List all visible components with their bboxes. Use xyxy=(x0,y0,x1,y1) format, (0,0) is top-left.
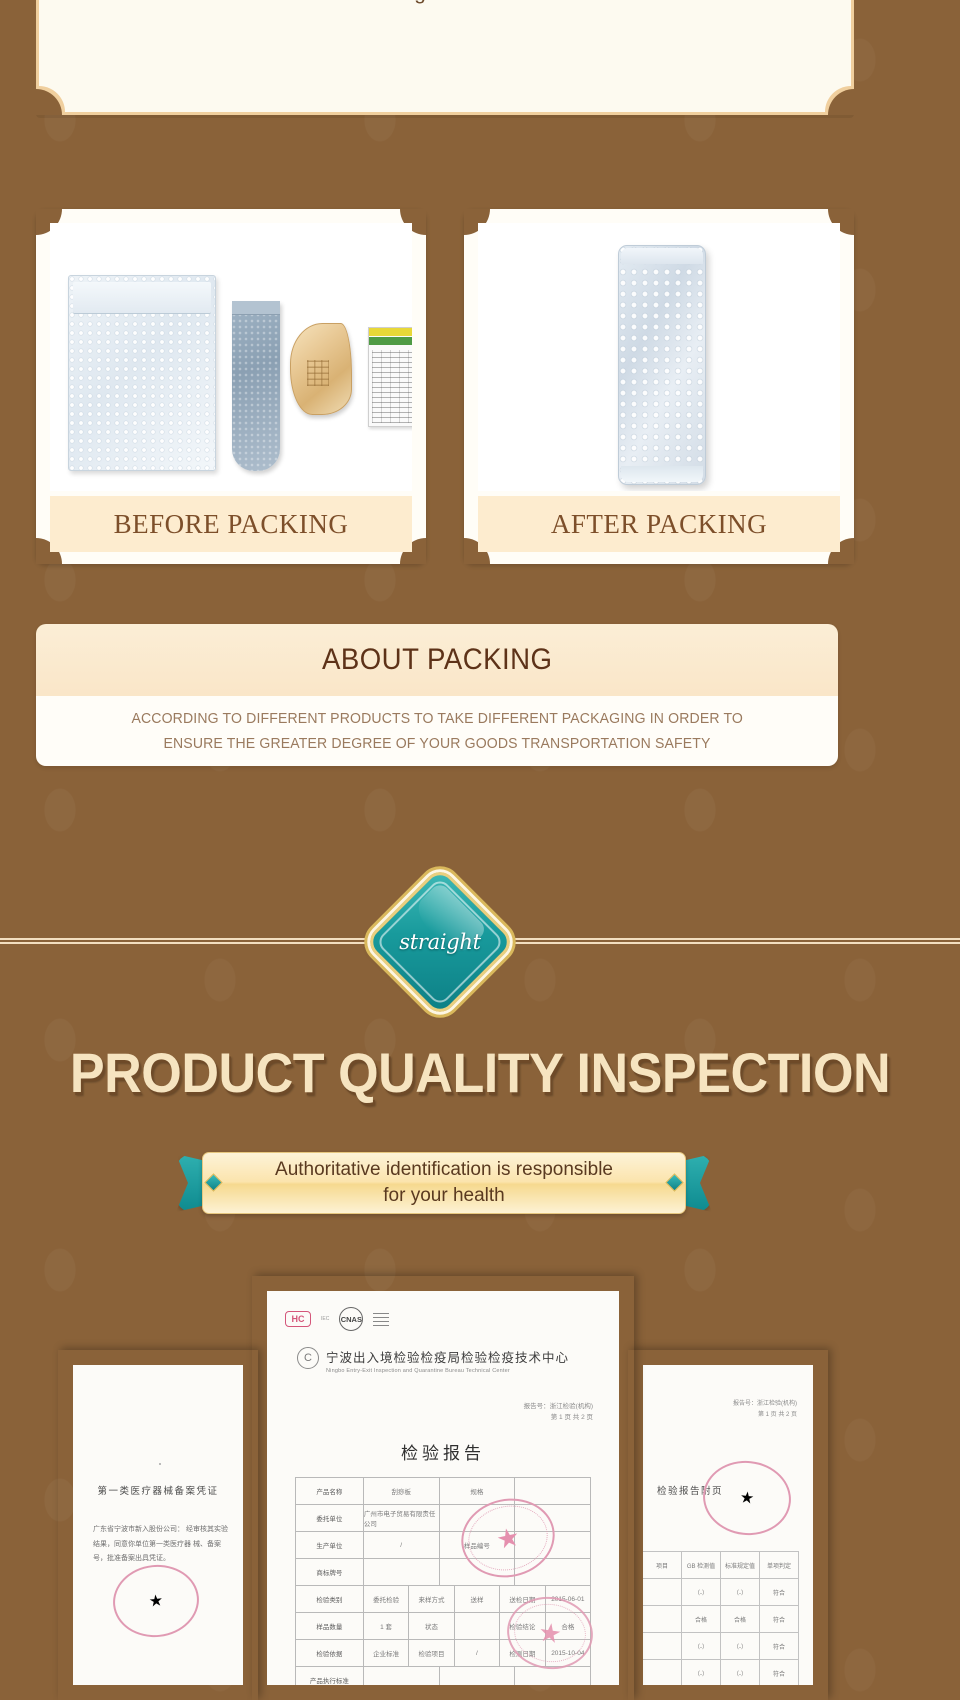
table-cell: 合格 xyxy=(682,1606,721,1632)
hc-logo-icon: HC xyxy=(285,1311,311,1327)
certificate-frame: 报告号：浙江检验(机构) 第 1 页 共 2 页 检验报告附页 ★ 项目GB 检… xyxy=(636,1358,820,1692)
table-cell xyxy=(643,1606,682,1632)
table-cell-label: 样品数量 xyxy=(296,1613,364,1639)
about-packing-heading: ABOUT PACKING xyxy=(322,643,552,677)
certificate-left-paragraph: 广东省宁波市新入股份公司： 经审核其实验结果，同意你单位第一类医疗器 械、备案号… xyxy=(93,1523,229,1567)
certificate-right: 报告号：浙江检验(机构) 第 1 页 共 2 页 检验报告附页 ★ 项目GB 检… xyxy=(628,1350,828,1700)
table-cell: 项目 xyxy=(643,1552,682,1578)
certificate-left-title: 第一类医疗器械备案凭证 xyxy=(73,1483,243,1497)
leaflet-yellow-band xyxy=(369,328,412,336)
about-packing-body: ACCORDING TO DIFFERENT PRODUCTS TO TAKE … xyxy=(36,696,838,766)
after-packing-label: AFTER PACKING xyxy=(478,496,840,552)
table-cell: 刮痧板 xyxy=(364,1478,440,1504)
certificate-frame: 第一类医疗器械备案凭证 广东省宁波市新入股份公司： 经审核其实验结果，同意你单位… xyxy=(66,1358,250,1692)
table-row: 合格合格符合 xyxy=(643,1606,799,1633)
about-packing-line-1: ACCORDING TO DIFFERENT PRODUCTS TO TAKE … xyxy=(131,707,743,732)
certificate-page: HC IEC CNAS C 宁波出入境检验检疫局检验检疫技术中心 Ningbo … xyxy=(267,1291,619,1685)
org-names: 宁波出入境检验检疫局检验检疫技术中心 Ningbo Entry-Exit Ins… xyxy=(326,1347,569,1374)
ribbon-body: Authoritative identification is responsi… xyxy=(202,1152,686,1214)
pouch-lip xyxy=(232,301,280,315)
table-cell xyxy=(364,1559,440,1585)
table-cell: 标准规定值 xyxy=(721,1552,760,1578)
report-number: 报告号：浙江检验(机构) xyxy=(733,1399,797,1410)
ribbon-text: Authoritative identification is responsi… xyxy=(249,1157,639,1208)
instruction-leaflet xyxy=(368,327,412,427)
leaflet-green-band xyxy=(369,337,412,345)
official-seal-stamp: ★ xyxy=(699,1457,794,1540)
envelope-flap xyxy=(73,282,211,314)
official-seal-stamp: ★ xyxy=(109,1561,202,1642)
table-row: （-）（-）符合 xyxy=(643,1579,799,1606)
table-row: （-）（-）符合 xyxy=(643,1660,799,1685)
table-cell: 1 套 xyxy=(364,1613,409,1639)
report-meta: 报告号：浙江检验(机构) 第 1 页 共 2 页 xyxy=(733,1399,797,1422)
spec-card: long:100mm xyxy=(36,0,854,115)
before-packing-photo xyxy=(50,223,412,491)
before-packing-card: BEFORE PACKING xyxy=(36,209,426,564)
ribbon-line-2: for your health xyxy=(383,1185,504,1206)
table-cell-label: 委托单位 xyxy=(296,1505,364,1531)
issuing-organization: C 宁波出入境检验检疫局检验检疫技术中心 Ningbo Entry-Exit I… xyxy=(297,1347,601,1374)
logo-caption: IEC xyxy=(321,1316,329,1322)
pouch-texture xyxy=(232,301,280,471)
after-packing-photo xyxy=(478,223,840,491)
table-header-row: 项目GB 检测值标准规定值单项判定 xyxy=(643,1552,799,1579)
table-cell xyxy=(643,1633,682,1659)
certificate-page: 报告号：浙江检验(机构) 第 1 页 共 2 页 检验报告附页 ★ 项目GB 检… xyxy=(643,1365,813,1685)
ribbon-right-tail xyxy=(682,1154,712,1212)
table-cell: GB 检测值 xyxy=(682,1552,721,1578)
table-cell: 符合 xyxy=(760,1633,799,1659)
org-emblem-icon: C xyxy=(297,1347,319,1369)
gua-sha-tool xyxy=(290,323,352,415)
org-name-en: Ningbo Entry-Exit Inspection and Quarant… xyxy=(326,1368,569,1374)
leaflet-text-rows xyxy=(372,350,412,423)
table-cell: （-） xyxy=(721,1579,760,1605)
table-cell: 合格 xyxy=(721,1606,760,1632)
certificate-center: HC IEC CNAS C 宁波出入境检验检疫局检验检疫技术中心 Ningbo … xyxy=(252,1276,634,1700)
table-cell: （-） xyxy=(721,1660,760,1685)
table-cell xyxy=(364,1667,440,1685)
subtitle-ribbon: Authoritative identification is responsi… xyxy=(176,1152,712,1214)
table-cell: 检验项目 xyxy=(409,1640,454,1666)
brand-badge-label: straight xyxy=(386,888,494,996)
org-name-cn: 宁波出入境检验检疫局检验检疫技术中心 xyxy=(326,1347,569,1366)
table-cell xyxy=(455,1613,500,1639)
table-cell: 单项判定 xyxy=(760,1552,799,1578)
table-cell-label: 检验类别 xyxy=(296,1586,364,1612)
table-cell: 符合 xyxy=(760,1606,799,1632)
table-cell: （-） xyxy=(682,1633,721,1659)
table-cell: （-） xyxy=(721,1633,760,1659)
table-cell: 企业标准 xyxy=(364,1640,409,1666)
gua-sha-engraving xyxy=(307,360,329,386)
packing-comparison-row: BEFORE PACKING AFTER PACKING xyxy=(36,209,854,564)
seal-star-icon: ★ xyxy=(148,1590,164,1611)
report-number: 报告号：浙江检验(机构) xyxy=(524,1401,593,1412)
sealed-bubble-bag xyxy=(618,245,706,485)
page-mark xyxy=(159,1463,161,1465)
table-cell: 符合 xyxy=(760,1579,799,1605)
table-cell: （-） xyxy=(682,1660,721,1685)
table-row: 产品执行标准 xyxy=(296,1667,591,1685)
certificates-row: 第一类医疗器械备案凭证 广东省宁波市新入股份公司： 经审核其实验结果，同意你单位… xyxy=(0,1276,960,1700)
table-row: 商标牌号 xyxy=(296,1559,591,1586)
table-cell: 来样方式 xyxy=(409,1586,454,1612)
certificate-left: 第一类医疗器械备案凭证 广东省宁波市新入股份公司： 经审核其实验结果，同意你单位… xyxy=(58,1350,258,1700)
table-cell-label: 产品名称 xyxy=(296,1478,364,1504)
table-row: 产品名称刮痧板规格 xyxy=(296,1478,591,1505)
table-cell-label: 产品执行标准 xyxy=(296,1667,364,1685)
table-cell: 符合 xyxy=(760,1660,799,1685)
before-packing-label: BEFORE PACKING xyxy=(50,496,412,552)
table-cell xyxy=(440,1667,516,1685)
table-cell xyxy=(643,1660,682,1685)
bubble-mailer-envelope xyxy=(68,275,216,471)
bag-bottom-seal xyxy=(621,466,703,482)
about-packing-header: ABOUT PACKING xyxy=(36,624,838,696)
bubble-texture xyxy=(619,246,705,484)
table-cell: 委托检验 xyxy=(364,1586,409,1612)
fabric-pouch xyxy=(232,301,280,471)
table-cell-label: 商标牌号 xyxy=(296,1559,364,1585)
table-cell: （-） xyxy=(682,1579,721,1605)
certificate-center-title: 检验报告 xyxy=(267,1439,619,1464)
report-meta: 报告号：浙江检验(机构) 第 1 页 共 2 页 xyxy=(524,1401,593,1423)
about-packing-panel: ABOUT PACKING ACCORDING TO DIFFERENT PRO… xyxy=(36,624,838,766)
about-packing-line-2: ENSURE THE GREATER DEGREE OF YOUR GOODS … xyxy=(163,732,710,757)
table-cell: 广州市电子贸易有限责任公司 xyxy=(364,1505,440,1531)
table-cell-label: 检验依据 xyxy=(296,1640,364,1666)
table-row: （-）（-）符合 xyxy=(643,1633,799,1660)
cnas-logo-icon: CNAS xyxy=(339,1307,363,1331)
certificate-page: 第一类医疗器械备案凭证 广东省宁波市新入股份公司： 经审核其实验结果，同意你单位… xyxy=(73,1365,243,1685)
after-packing-card: AFTER PACKING xyxy=(464,209,854,564)
appendix-table: 项目GB 检测值标准规定值单项判定（-）（-）符合合格合格符合（-）（-）符合（… xyxy=(643,1551,799,1685)
seal-ring xyxy=(510,1599,589,1666)
iso-logo-icon xyxy=(373,1312,389,1326)
report-page: 第 1 页 共 2 页 xyxy=(733,1410,797,1421)
ribbon-line-1: Authoritative identification is responsi… xyxy=(275,1159,613,1180)
bag-top-seal xyxy=(621,248,703,264)
table-cell: / xyxy=(455,1640,500,1666)
spec-dimension-text: long:100mm xyxy=(39,0,851,5)
accreditation-logos: HC IEC CNAS xyxy=(285,1307,389,1331)
table-cell: 状态 xyxy=(409,1613,454,1639)
page-title: PRODUCT QUALITY INSPECTION xyxy=(34,1040,927,1105)
certificate-frame: HC IEC CNAS C 宁波出入境检验检疫局检验检疫技术中心 Ningbo … xyxy=(260,1284,626,1692)
report-page: 第 1 页 共 2 页 xyxy=(524,1412,593,1423)
table-cell: 送样 xyxy=(455,1586,500,1612)
table-cell xyxy=(643,1579,682,1605)
table-cell: / xyxy=(364,1532,440,1558)
table-cell xyxy=(515,1667,591,1685)
seal-star-icon: ★ xyxy=(739,1487,755,1508)
table-cell-label: 生产单位 xyxy=(296,1532,364,1558)
